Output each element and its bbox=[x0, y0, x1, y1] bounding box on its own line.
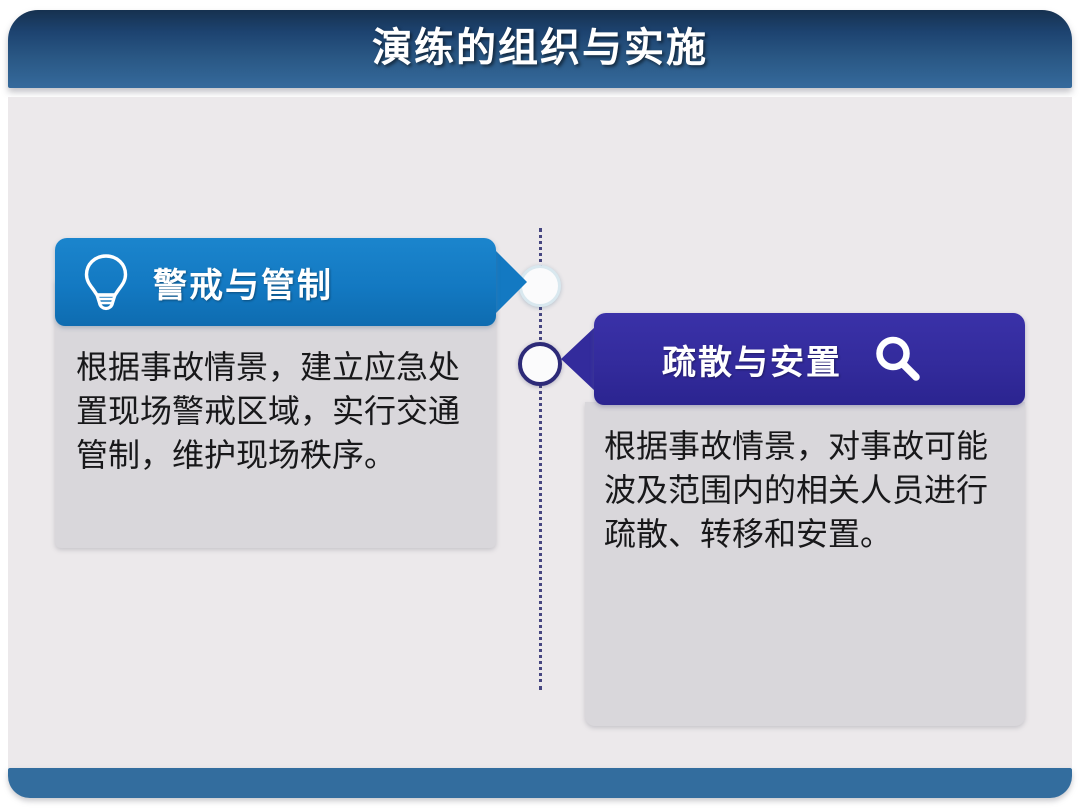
slide-canvas: 演练的组织与实施 警戒与管制 根据事故情景，建立应急处置现场警戒区域，实行交通管… bbox=[0, 0, 1080, 810]
card-header-label-2: 疏散与安置 bbox=[662, 335, 842, 384]
card-header-label-1: 警戒与管制 bbox=[153, 258, 333, 307]
card-header-2[interactable]: 疏散与安置 bbox=[594, 313, 1025, 405]
card-2-pointer-arrow bbox=[561, 327, 595, 391]
lightbulb-icon bbox=[81, 253, 131, 311]
card-body-text-1: 根据事故情景，建立应急处置现场警戒区域，实行交通管制，维护现场秩序。 bbox=[76, 345, 486, 477]
slide-footer-bar bbox=[8, 768, 1072, 798]
card-header-1[interactable]: 警戒与管制 bbox=[55, 238, 496, 326]
slide-title-bar: 演练的组织与实施 bbox=[8, 10, 1072, 88]
page-title: 演练的组织与实施 bbox=[372, 28, 708, 70]
connector-node-2[interactable] bbox=[518, 342, 562, 386]
card-body-text-2: 根据事故情景，对事故可能波及范围内的相关人员进行疏散、转移和安置。 bbox=[604, 424, 1014, 556]
search-icon bbox=[872, 333, 924, 385]
card-1-pointer-arrow bbox=[495, 250, 527, 314]
